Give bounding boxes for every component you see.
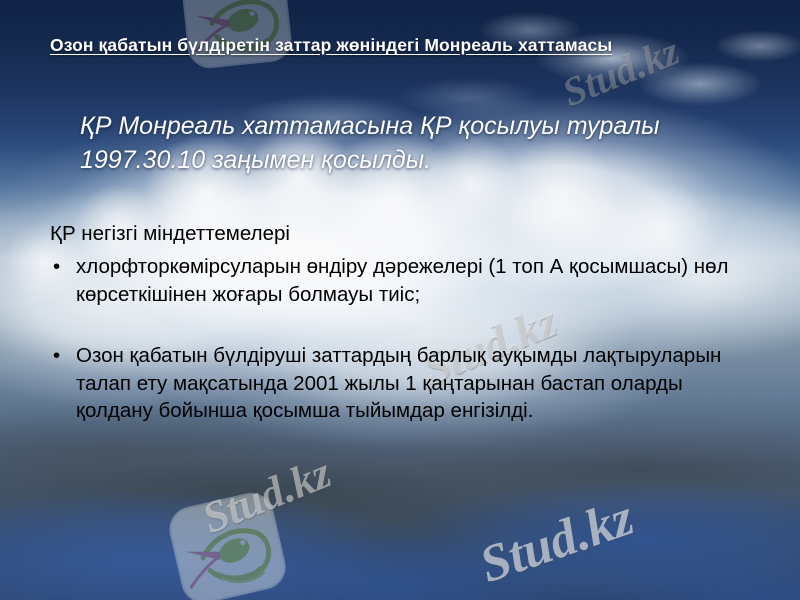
slide-body: ҚР негізгі міндеттемелері • хлорфторкөмі… bbox=[50, 220, 760, 425]
bullet-marker-icon: • bbox=[53, 342, 60, 369]
body-intro-line: ҚР негізгі міндеттемелері bbox=[50, 220, 760, 247]
bullet-marker-icon: • bbox=[53, 253, 60, 280]
bullet-list: • хлорфторкөмірсуларын өндіру дәрежелері… bbox=[50, 253, 760, 424]
slide-subtitle: ҚР Монреаль хаттамасына ҚР қосылуы турал… bbox=[80, 110, 720, 177]
bullet-item: • Озон қабатын бүлдіруші заттардың барлы… bbox=[50, 342, 760, 424]
slide-title: Озон қабатын бүлдіретін заттар жөніндегі… bbox=[50, 33, 730, 58]
bullet-text: хлорфторкөмірсуларын өндіру дәрежелері (… bbox=[76, 255, 728, 305]
bullet-text: Озон қабатын бүлдіруші заттардың барлық … bbox=[76, 344, 721, 422]
bullet-item: • хлорфторкөмірсуларын өндіру дәрежелері… bbox=[50, 253, 760, 308]
slide-content: Озон қабатын бүлдіретін заттар жөніндегі… bbox=[0, 0, 800, 600]
presentation-slide: Stud.kz Stud.kz Stud.kz Stud.kz Озон қаб… bbox=[0, 0, 800, 600]
